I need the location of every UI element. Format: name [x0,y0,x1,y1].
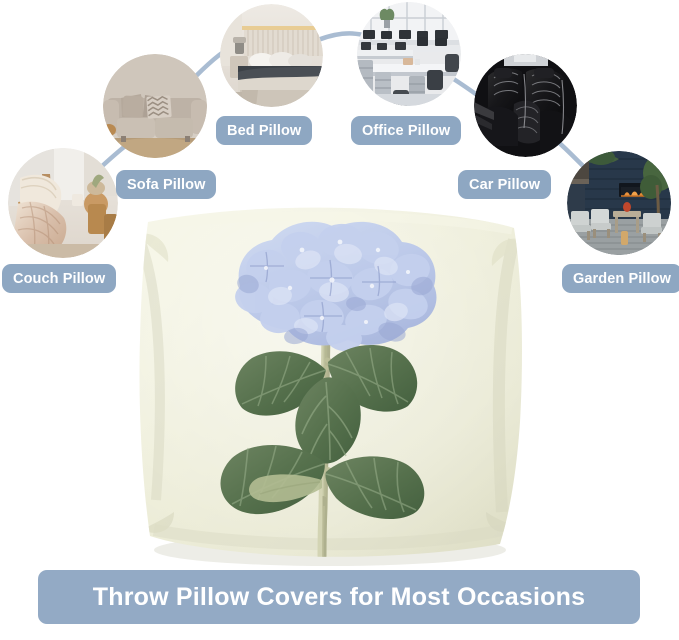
banner-headline: Throw Pillow Covers for Most Occasions [93,583,585,612]
chip-couch-pillow[interactable]: Couch Pillow [2,264,116,293]
scene-office [357,2,461,106]
chip-bed-pillow[interactable]: Bed Pillow [216,116,312,145]
chip-car-pillow[interactable]: Car Pillow [458,170,551,199]
infographic-canvas: Couch Pillow [0,0,679,640]
car-pillow-photo [474,54,577,157]
scene-garden [567,151,671,255]
couch-pillow-photo [8,148,118,258]
product-pillow [130,200,530,570]
bed-pillow-photo [220,4,323,107]
chip-office-pillow[interactable]: Office Pillow [351,116,461,145]
garden-pillow-photo [567,151,671,255]
office-pillow-photo [357,2,461,106]
hydrangea-pillow-illustration [130,200,530,570]
chip-sofa-pillow[interactable]: Sofa Pillow [116,170,216,199]
scene-bed [220,4,323,107]
sofa-pillow-photo [103,54,207,158]
scene-sofa [103,54,207,158]
chip-garden-pillow[interactable]: Garden Pillow [562,264,679,293]
bottom-banner: Throw Pillow Covers for Most Occasions [38,570,640,624]
scene-car [474,54,577,157]
scene-couch [8,148,118,258]
